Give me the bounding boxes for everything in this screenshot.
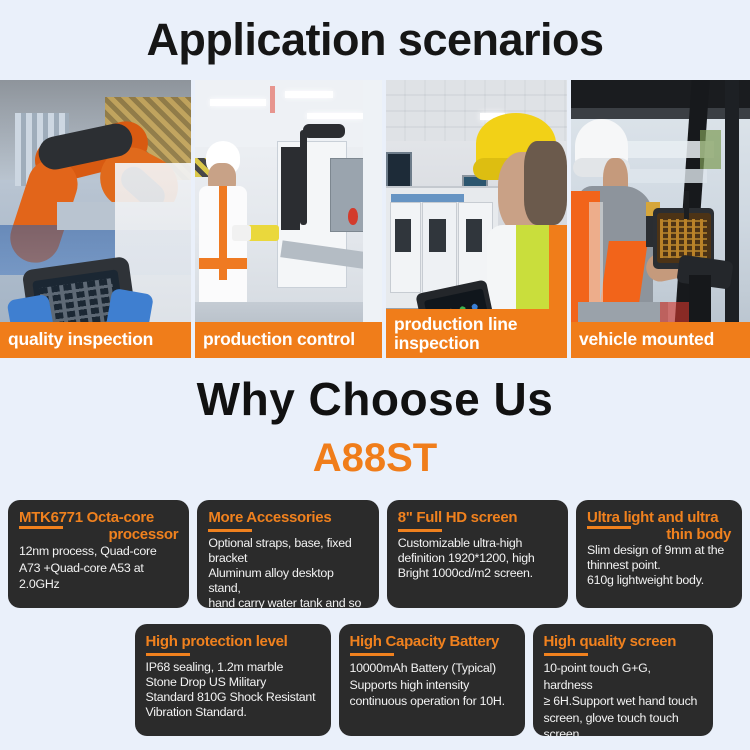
robot-arm-photo [0, 80, 191, 358]
title-underline-rule [544, 653, 588, 656]
scenario-card-production-control[interactable]: production control [195, 80, 382, 358]
scenario-caption: vehicle mounted [571, 322, 750, 358]
feature-card-thin-light[interactable]: Ultra light and ultra thin body Slim des… [576, 500, 742, 608]
feature-body: 10-point touch G+G, hardness ≥ 6H.Suppor… [544, 660, 702, 736]
feature-title: MTK6771 Octa-core [19, 509, 178, 526]
feature-body: Slim design of 9mm at the thinnest point… [587, 543, 731, 588]
why-choose-us-title: Why Choose Us [0, 372, 750, 426]
title-underline-rule [146, 653, 190, 656]
scenario-card-vehicle-mounted[interactable]: vehicle mounted [571, 80, 750, 358]
feature-title: High quality screen [544, 633, 702, 650]
title-underline-rule [208, 529, 252, 532]
title-underline-rule [587, 526, 631, 529]
feature-body: IP68 sealing, 1.2m marble Stone Drop US … [146, 660, 320, 720]
feature-body: 12nm process, Quad-core A73 +Quad-core A… [19, 543, 178, 593]
scenario-card-production-line-inspection[interactable]: production line inspection [386, 80, 567, 358]
feature-cards-row-2: High protection level IP68 sealing, 1.2m… [0, 624, 750, 736]
scenario-caption: production line inspection [386, 309, 567, 358]
feature-body: 10000mAh Battery (Typical) Supports high… [350, 660, 514, 710]
feature-cards-row-1: MTK6771 Octa-core processor 12nm process… [0, 500, 750, 608]
product-model: A88ST [0, 436, 750, 481]
feature-title: High Capacity Battery [350, 633, 514, 650]
feature-card-accessories[interactable]: More Accessories Optional straps, base, … [197, 500, 378, 608]
feature-title: 8" Full HD screen [398, 509, 557, 526]
factory-worker-photo [195, 80, 382, 358]
forklift-driver-photo [571, 80, 750, 358]
feature-card-touch-screen[interactable]: High quality screen 10-point touch G+G, … [533, 624, 713, 736]
scenario-photo-strip: quality inspection [0, 80, 750, 358]
page-title: Application scenarios [0, 0, 750, 80]
title-underline-rule [398, 529, 442, 532]
feature-title: Ultra light and ultra [587, 509, 731, 526]
scenario-caption: production control [195, 322, 382, 358]
feature-card-processor[interactable]: MTK6771 Octa-core processor 12nm process… [8, 500, 189, 608]
title-underline-rule [19, 526, 63, 529]
feature-card-display[interactable]: 8" Full HD screen Customizable ultra-hig… [387, 500, 568, 608]
title-underline-rule [350, 653, 394, 656]
feature-title: More Accessories [208, 509, 367, 526]
feature-card-protection[interactable]: High protection level IP68 sealing, 1.2m… [135, 624, 331, 736]
feature-body: Customizable ultra-high definition 1920*… [398, 536, 557, 581]
feature-title-block: Ultra light and ultra thin body [587, 509, 731, 543]
feature-card-battery[interactable]: High Capacity Battery 10000mAh Battery (… [339, 624, 525, 736]
feature-title: High protection level [146, 633, 320, 650]
scenario-caption: quality inspection [0, 322, 191, 358]
feature-body: Optional straps, base, fixed bracket Alu… [208, 536, 367, 608]
feature-title-block: MTK6771 Octa-core processor [19, 509, 178, 543]
scenario-card-quality-inspection[interactable]: quality inspection [0, 80, 191, 358]
